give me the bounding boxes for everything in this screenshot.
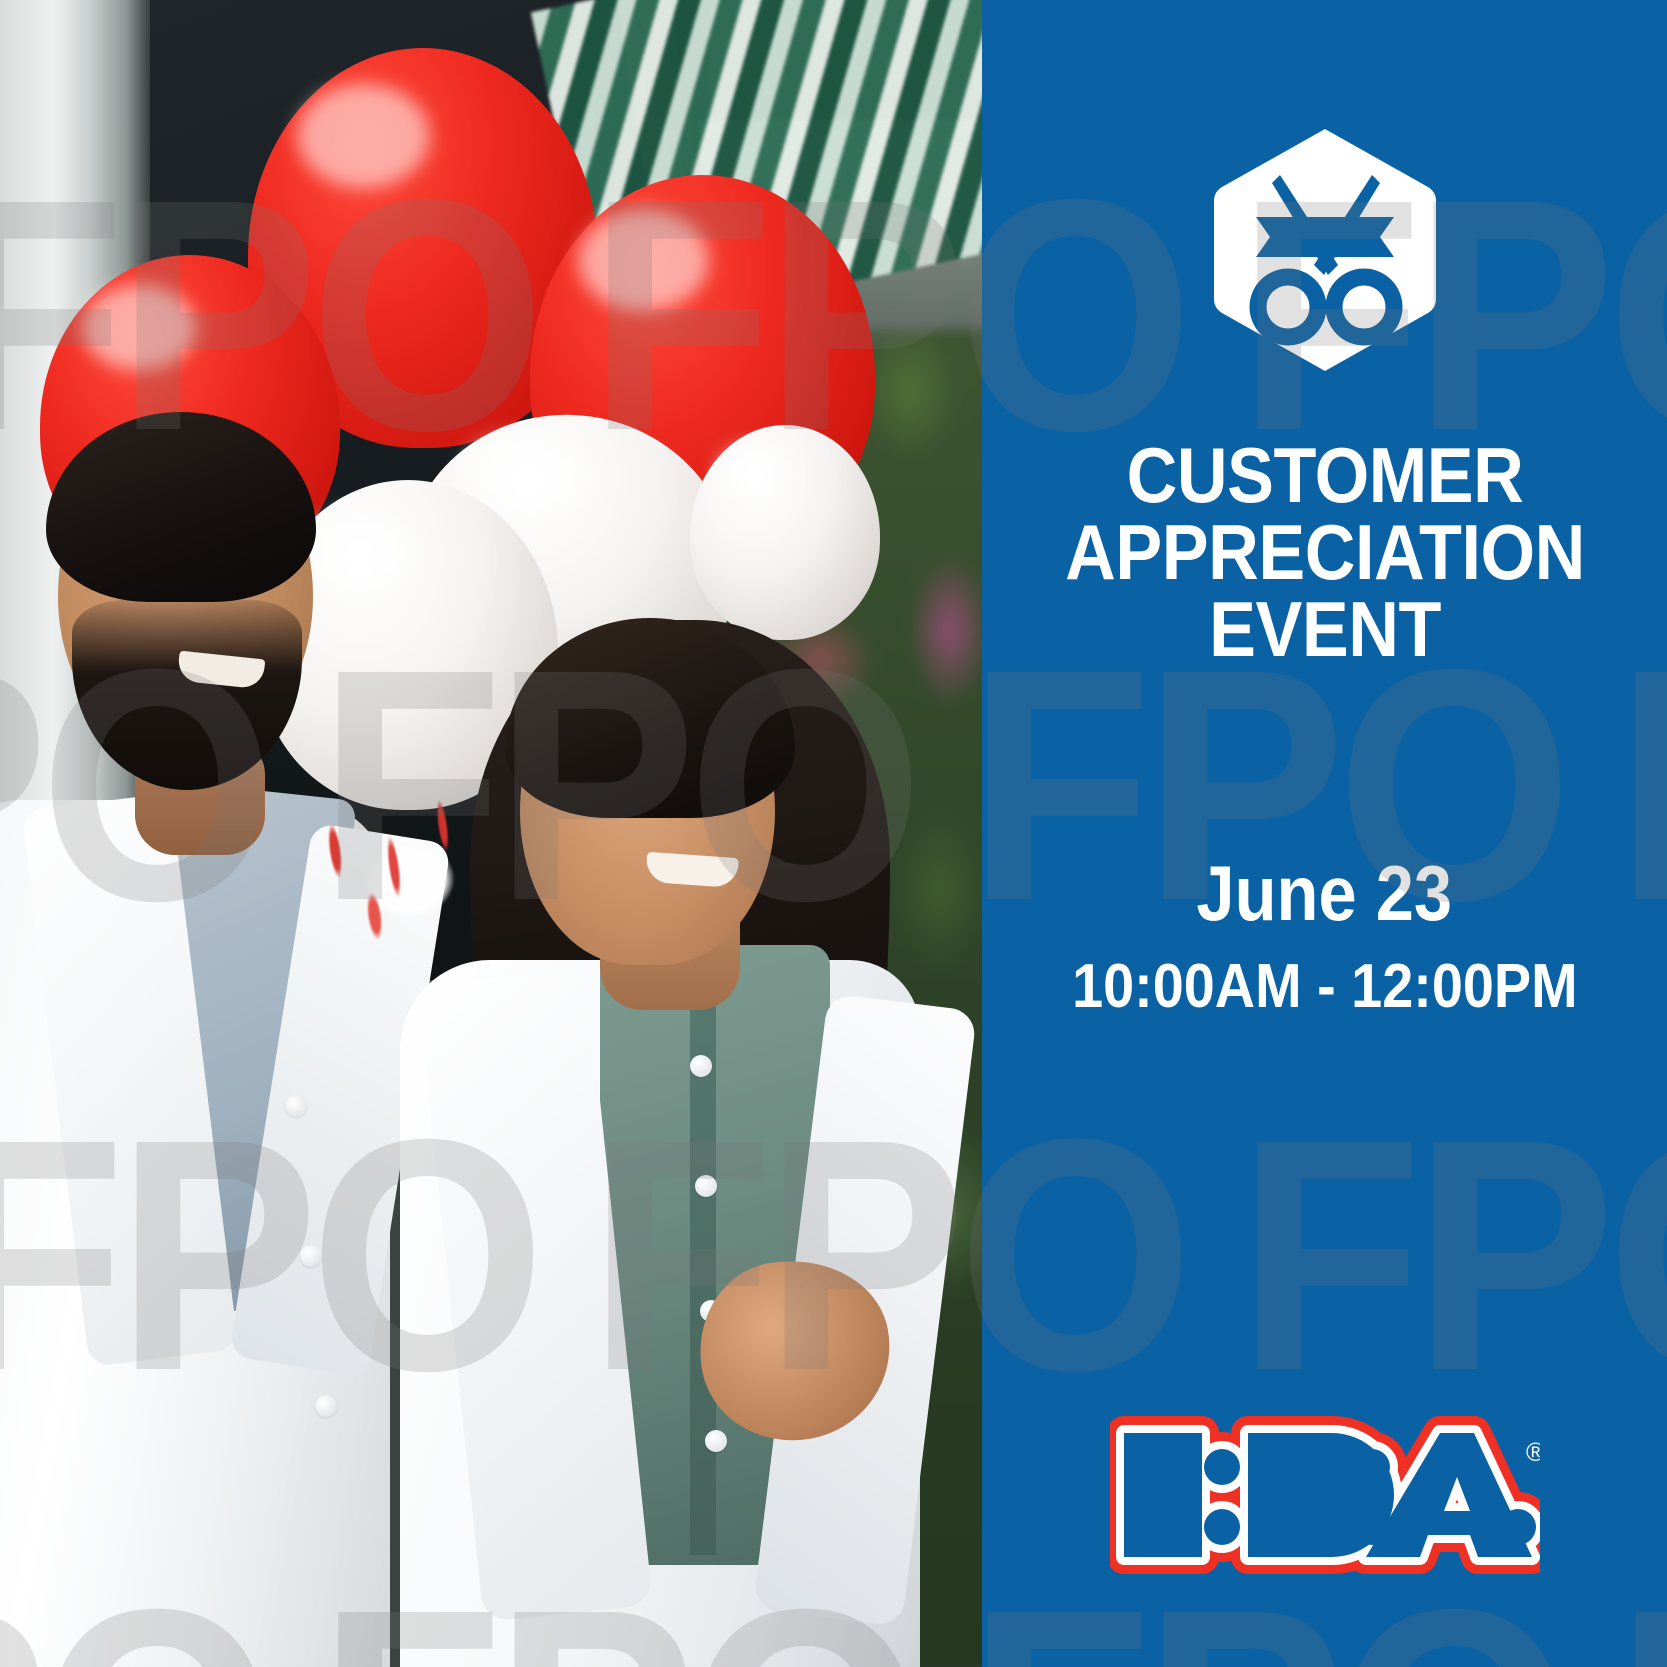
event-date: June 23 bbox=[1197, 854, 1453, 932]
blouse-button bbox=[705, 1430, 727, 1452]
headline-line-2: APPRECIATION bbox=[1037, 514, 1613, 591]
registered-trademark-symbol: ® bbox=[1526, 1437, 1540, 1467]
lab-coat-button bbox=[285, 1095, 307, 1117]
lab-coat-button bbox=[315, 1395, 337, 1417]
event-time: 10:00AM - 12:00PM bbox=[1072, 956, 1578, 1018]
blouse-button bbox=[695, 1175, 717, 1197]
ribbon-cutting-scissors-hexagon-icon bbox=[1210, 125, 1440, 375]
blouse-placket bbox=[690, 955, 716, 1555]
lab-coat-button bbox=[300, 1245, 322, 1267]
headline-line-1: CUSTOMER bbox=[1037, 437, 1613, 514]
blouse-button bbox=[690, 1055, 712, 1077]
headline-line-3: EVENT bbox=[1037, 591, 1613, 668]
ida-pharmacy-logo: ® bbox=[982, 1415, 1667, 1575]
page-title: CUSTOMER APPRECIATION EVENT bbox=[1037, 437, 1613, 669]
white-balloon bbox=[690, 425, 880, 640]
poster-canvas: CUSTOMER APPRECIATION EVENT June 23 10:0… bbox=[0, 0, 1667, 1667]
info-panel: CUSTOMER APPRECIATION EVENT June 23 10:0… bbox=[982, 0, 1667, 1667]
event-photo bbox=[0, 0, 982, 1667]
